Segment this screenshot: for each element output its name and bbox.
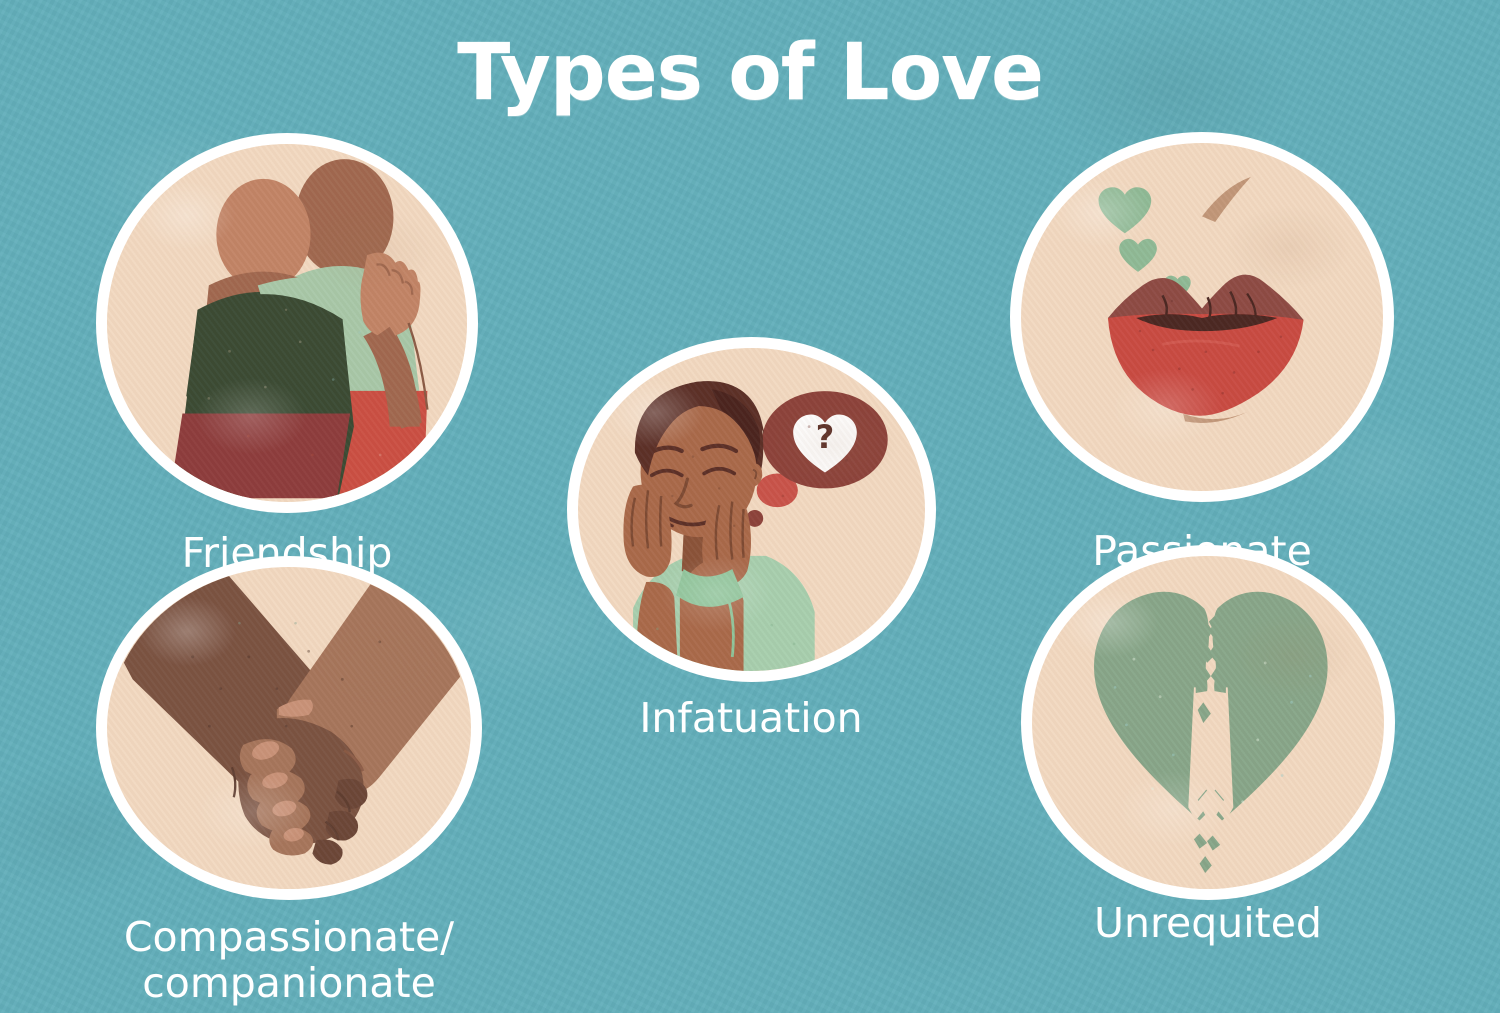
label-unrequited: Unrequited	[997, 900, 1419, 946]
thought-question-mark: ?	[816, 418, 834, 456]
label-compassionate: Compassionate/ companionate	[34, 914, 544, 1007]
broken-heart-two-profiles-icon	[1032, 556, 1384, 889]
card-unrequited: Unrequited	[1021, 545, 1395, 900]
infographic-poster: Types of Love	[0, 0, 1500, 1013]
card-infatuation: ?	[567, 337, 936, 682]
daydreaming-person-thought-bubble-icon: ?	[578, 348, 925, 671]
kissing-lips-with-hearts-icon	[1021, 143, 1383, 491]
passionate-bubble	[1010, 132, 1394, 502]
card-friendship: Friendship	[96, 133, 478, 513]
label-infatuation: Infatuation	[531, 695, 971, 741]
two-people-hugging-icon	[107, 144, 467, 502]
card-passionate: Passionate	[1010, 132, 1394, 502]
unrequited-bubble	[1021, 545, 1395, 900]
two-hands-clasped-icon	[107, 567, 471, 889]
friendship-bubble	[96, 133, 478, 513]
page-title: Types of Love	[0, 28, 1500, 118]
infatuation-bubble: ?	[567, 337, 936, 682]
compassionate-bubble	[96, 556, 482, 900]
card-compassionate: Compassionate/ companionate	[96, 556, 482, 900]
